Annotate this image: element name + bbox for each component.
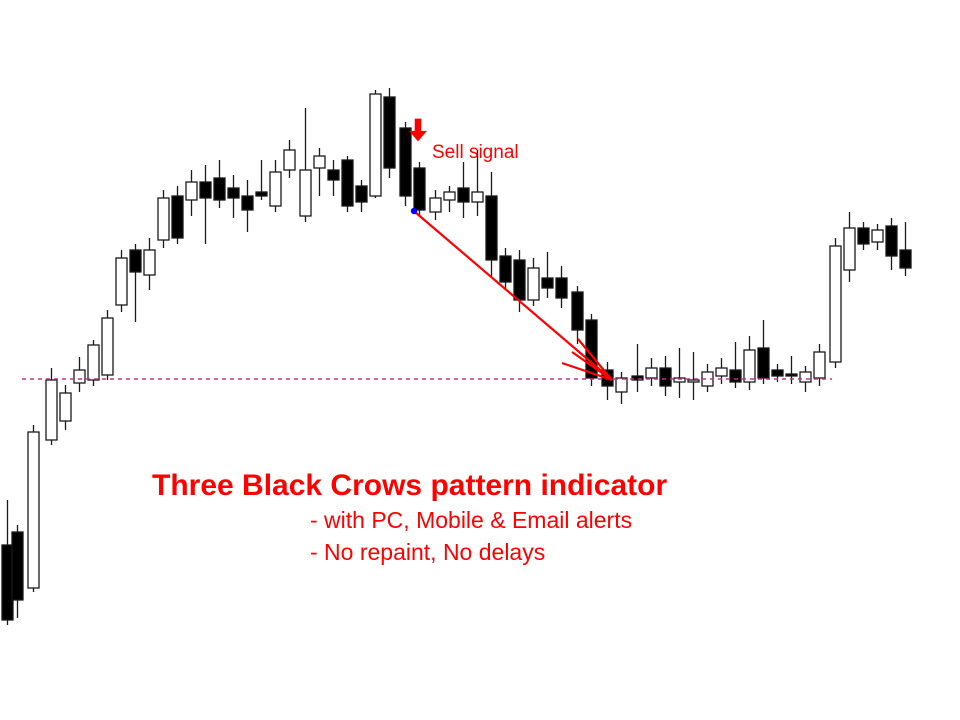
candlestick-26 <box>370 90 381 198</box>
candlestick-63 <box>900 222 911 276</box>
candlestick-18 <box>256 160 267 200</box>
arrow-down-icon <box>409 119 427 142</box>
candlestick-36 <box>514 250 525 312</box>
candlestick-45 <box>646 358 657 386</box>
candlestick-58 <box>830 238 841 368</box>
candlestick-25 <box>356 180 367 212</box>
candlestick-20 <box>284 140 295 178</box>
candlestick-19 <box>270 160 281 212</box>
candlestick-39 <box>556 266 567 308</box>
candlestick-24 <box>342 156 353 212</box>
candlestick-32 <box>458 162 469 218</box>
candlestick-28 <box>400 122 411 206</box>
candlestick-53 <box>758 320 769 384</box>
candlestick-9 <box>130 244 141 322</box>
candlestick-8 <box>116 250 127 312</box>
candlestick-27 <box>384 88 395 178</box>
candlestick-12 <box>172 186 183 244</box>
candlestick-34 <box>486 172 497 278</box>
candlestick-52 <box>744 336 755 390</box>
candlestick-50 <box>716 358 727 384</box>
feature-alerts-text: - with PC, Mobile & Email alerts <box>310 507 632 534</box>
candlestick-5 <box>74 357 85 392</box>
sell-signal-label: Sell signal <box>432 142 519 164</box>
candlestick-40 <box>572 286 583 344</box>
candlestick-42 <box>602 362 613 400</box>
candlestick-4 <box>60 385 71 430</box>
candlestick-48 <box>688 352 699 400</box>
candlestick-31 <box>444 186 455 212</box>
candlestick-46 <box>660 356 671 396</box>
candlestick-43 <box>616 372 627 404</box>
candlestick-37 <box>528 258 539 306</box>
page-title: Three Black Crows pattern indicator <box>152 469 667 503</box>
candlestick-38 <box>542 252 553 298</box>
candlestick-23 <box>328 160 339 196</box>
candlestick-47 <box>674 348 685 398</box>
candlestick-59 <box>844 212 855 282</box>
candlestick-13 <box>186 170 197 216</box>
candlestick-chart <box>0 0 960 720</box>
candlestick-21 <box>300 108 311 222</box>
candlestick-60 <box>858 222 869 250</box>
candlestick-51 <box>730 342 741 388</box>
candlestick-14 <box>200 165 211 244</box>
candlestick-22 <box>314 148 325 196</box>
candlestick-61 <box>872 224 883 250</box>
candlestick-7 <box>102 310 113 380</box>
candlestick-11 <box>158 190 169 248</box>
feature-norepaint-text: - No repaint, No delays <box>310 539 545 566</box>
chart-canvas: Sell signal Three Black Crows pattern in… <box>0 0 960 720</box>
candlestick-44 <box>632 344 643 392</box>
candlestick-35 <box>500 248 511 290</box>
candlestick-30 <box>430 190 441 220</box>
candlestick-10 <box>144 238 155 290</box>
candlestick-15 <box>214 160 225 208</box>
candlestick-62 <box>886 218 897 270</box>
candlestick-16 <box>228 175 239 218</box>
candlestick-17 <box>242 180 253 232</box>
signal-dot-icon <box>411 208 417 214</box>
candlestick-2 <box>28 425 39 592</box>
candlestick-29 <box>414 162 425 216</box>
candlestick-49 <box>702 364 713 392</box>
